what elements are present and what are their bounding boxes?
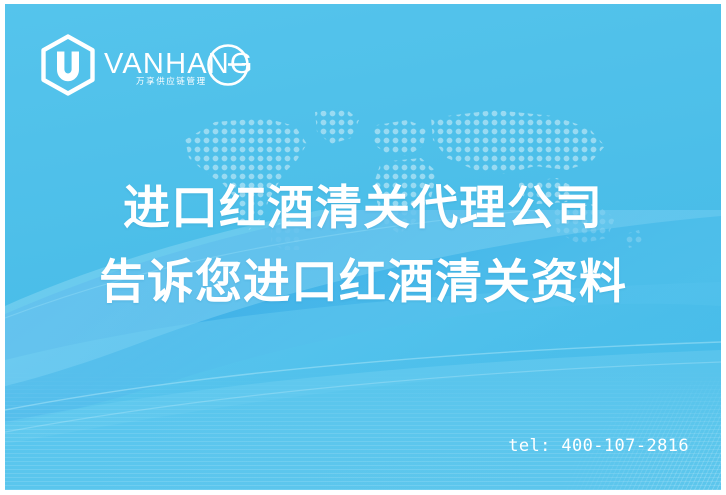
horizontal-stripe-texture (5, 370, 721, 490)
diagonal-hatch-texture (391, 300, 721, 490)
brand-wordmark: VANHANG 万享供应链管理 (102, 34, 254, 96)
headline-line-2: 告诉您进口红酒清关资料 (5, 246, 721, 320)
brand-wordmark-text: VANHANG (104, 50, 254, 79)
promo-banner: VANHANG 万享供应链管理 进口红酒清关代理公司 告诉您进口红酒清关资料 t… (0, 0, 726, 495)
page-title: 进口红酒清关代理公司 告诉您进口红酒清关资料 (5, 172, 721, 320)
hexagon-u-logo-icon (38, 34, 98, 96)
dotted-world-map-icon (175, 100, 645, 250)
brand-subtitle-text: 万享供应链管理 (136, 78, 207, 87)
brand-logo[interactable]: VANHANG 万享供应链管理 (38, 34, 254, 96)
headline-line-1: 进口红酒清关代理公司 (5, 172, 721, 246)
contact-telephone[interactable]: tel: 400-107-2816 (508, 436, 689, 456)
banner-canvas: VANHANG 万享供应链管理 进口红酒清关代理公司 告诉您进口红酒清关资料 t… (5, 4, 721, 490)
